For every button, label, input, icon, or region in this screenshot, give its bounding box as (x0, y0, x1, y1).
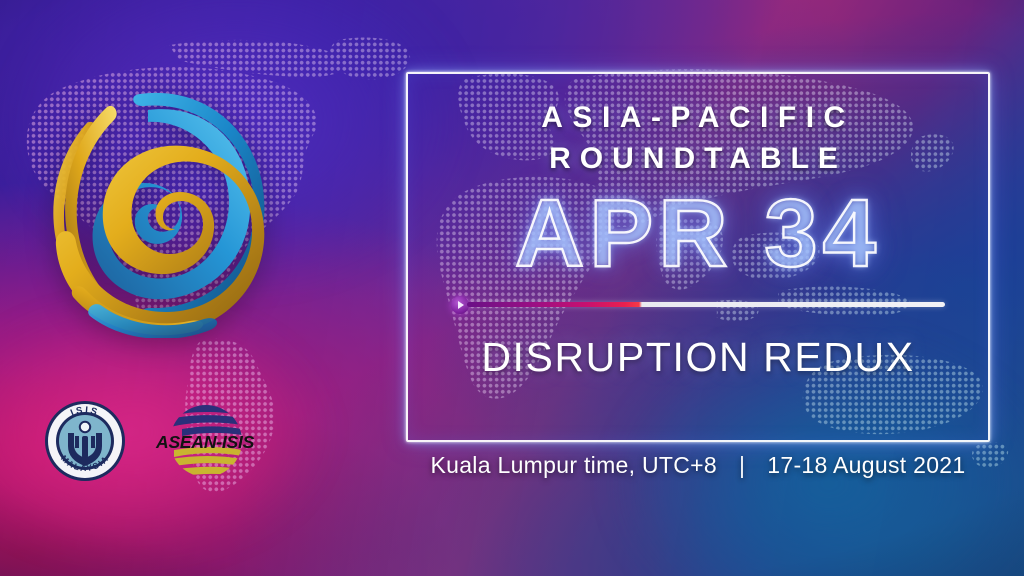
footer-timezone: Kuala Lumpur time, UTC+8 (430, 452, 717, 479)
poster-canvas: ISIS MALAYSIA (0, 0, 1024, 576)
event-edition-title: APR 34 (515, 186, 881, 282)
play-triangle-glyph (458, 301, 464, 309)
footer-dates: 17-18 August 2021 (767, 452, 965, 479)
isis-malaysia-logo: ISIS MALAYSIA (44, 400, 126, 482)
event-footer: Kuala Lumpur time, UTC+8 | 17-18 August … (406, 452, 990, 479)
footer-separator: | (739, 452, 745, 479)
progress-bar[interactable] (451, 296, 945, 314)
event-kicker-line1: ASIA-PACIFIC (541, 98, 854, 139)
event-tagline: DISRUPTION REDUX (481, 334, 914, 381)
apr-swirl-logo (28, 66, 280, 338)
progress-bar-track[interactable] (467, 302, 945, 307)
poster-content: ASIA-PACIFIC ROUNDTABLE APR 34 DISRUPTIO… (406, 72, 990, 442)
asean-isis-wordmark: ASEAN-ISIS (155, 432, 255, 452)
asean-isis-logo: ASEAN-ISIS (152, 398, 256, 484)
event-kicker-line2: ROUNDTABLE (549, 139, 847, 180)
organiser-logos: ISIS MALAYSIA (44, 398, 256, 484)
